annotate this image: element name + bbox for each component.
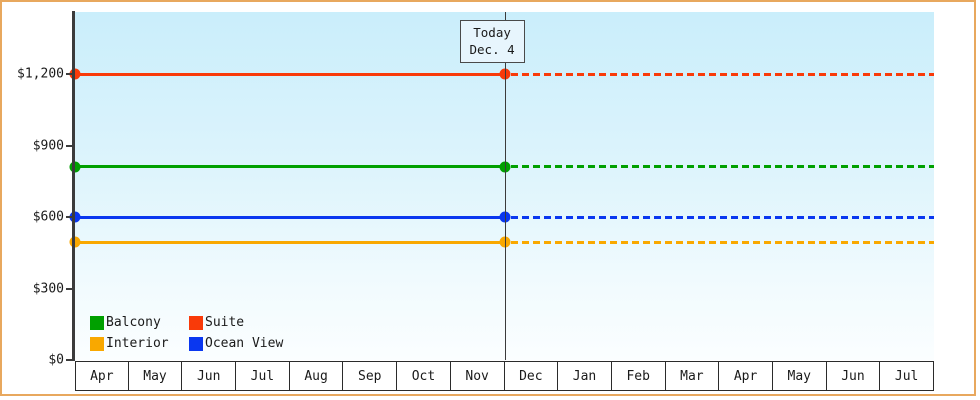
x-axis-month-cell[interactable]: Mar [666, 362, 720, 390]
series-line-solid-ocean-view [75, 216, 505, 219]
x-axis-month-cell[interactable]: Aug [290, 362, 344, 390]
x-axis-month-cell[interactable]: Sep [343, 362, 397, 390]
today-label-line2: Dec. 4 [470, 41, 515, 58]
series-line-forecast-suite [511, 73, 935, 76]
y-axis-labels: $0$300$600$900$1,200 [2, 2, 64, 398]
legend-item-interior[interactable]: Interior [90, 336, 189, 351]
today-label-line1: Today [470, 24, 515, 41]
legend-swatch-icon [90, 316, 104, 330]
series-line-forecast-interior [511, 241, 935, 244]
y-axis-spine [72, 11, 75, 361]
series-line-forecast-ocean-view [511, 216, 935, 219]
today-annotation-box: Today Dec. 4 [460, 20, 525, 63]
y-axis-tick [66, 359, 74, 361]
y-axis-tick [66, 288, 74, 290]
y-axis-tick [66, 216, 74, 218]
y-axis-tick-label: $600 [33, 210, 64, 225]
x-axis-month-cell[interactable]: May [129, 362, 183, 390]
plot-area [75, 12, 934, 360]
series-line-forecast-balcony [511, 165, 935, 168]
legend-swatch-icon [189, 316, 203, 330]
legend-item-balcony[interactable]: Balcony [90, 315, 189, 330]
x-axis-month-cell[interactable]: Feb [612, 362, 666, 390]
chart-frame: $0$300$600$900$1,200 Today Dec. 4 Balcon… [0, 0, 976, 396]
x-axis-month-cell[interactable]: Oct [397, 362, 451, 390]
series-line-solid-suite [75, 73, 505, 76]
x-axis-month-cell[interactable]: Dec [505, 362, 559, 390]
y-axis-tick-label: $1,200 [17, 67, 64, 82]
legend-swatch-icon [189, 337, 203, 351]
legend-label: Balcony [106, 315, 161, 330]
legend-label: Ocean View [205, 336, 283, 351]
y-axis-tick-label: $300 [33, 281, 64, 296]
series-line-solid-interior [75, 241, 505, 244]
x-axis-month-cell[interactable]: Nov [451, 362, 505, 390]
legend-label: Suite [205, 315, 244, 330]
y-axis-tick-label: $0 [48, 353, 64, 368]
x-axis-month-cell[interactable]: Apr [75, 362, 129, 390]
x-axis-month-cell[interactable]: Jun [182, 362, 236, 390]
y-axis-tick-label: $900 [33, 138, 64, 153]
x-axis-month-cell[interactable]: May [773, 362, 827, 390]
legend-label: Interior [106, 336, 169, 351]
legend-row: BalconySuite [90, 312, 283, 333]
chart-legend: BalconySuiteInteriorOcean View [90, 312, 283, 354]
x-axis-month-cell[interactable]: Jan [558, 362, 612, 390]
x-axis-month-cell[interactable]: Apr [719, 362, 773, 390]
y-axis-tick [66, 145, 74, 147]
legend-item-ocean-view[interactable]: Ocean View [189, 336, 283, 351]
x-axis-month-row: AprMayJunJulAugSepOctNovDecJanFebMarAprM… [75, 361, 934, 391]
today-vertical-line [505, 12, 507, 360]
y-axis-tick [66, 73, 74, 75]
x-axis-month-cell[interactable]: Jul [236, 362, 290, 390]
x-axis-month-cell[interactable]: Jul [880, 362, 934, 390]
legend-item-suite[interactable]: Suite [189, 315, 244, 330]
series-line-solid-balcony [75, 165, 505, 168]
legend-row: InteriorOcean View [90, 333, 283, 354]
x-axis-month-cell[interactable]: Jun [827, 362, 881, 390]
legend-swatch-icon [90, 337, 104, 351]
